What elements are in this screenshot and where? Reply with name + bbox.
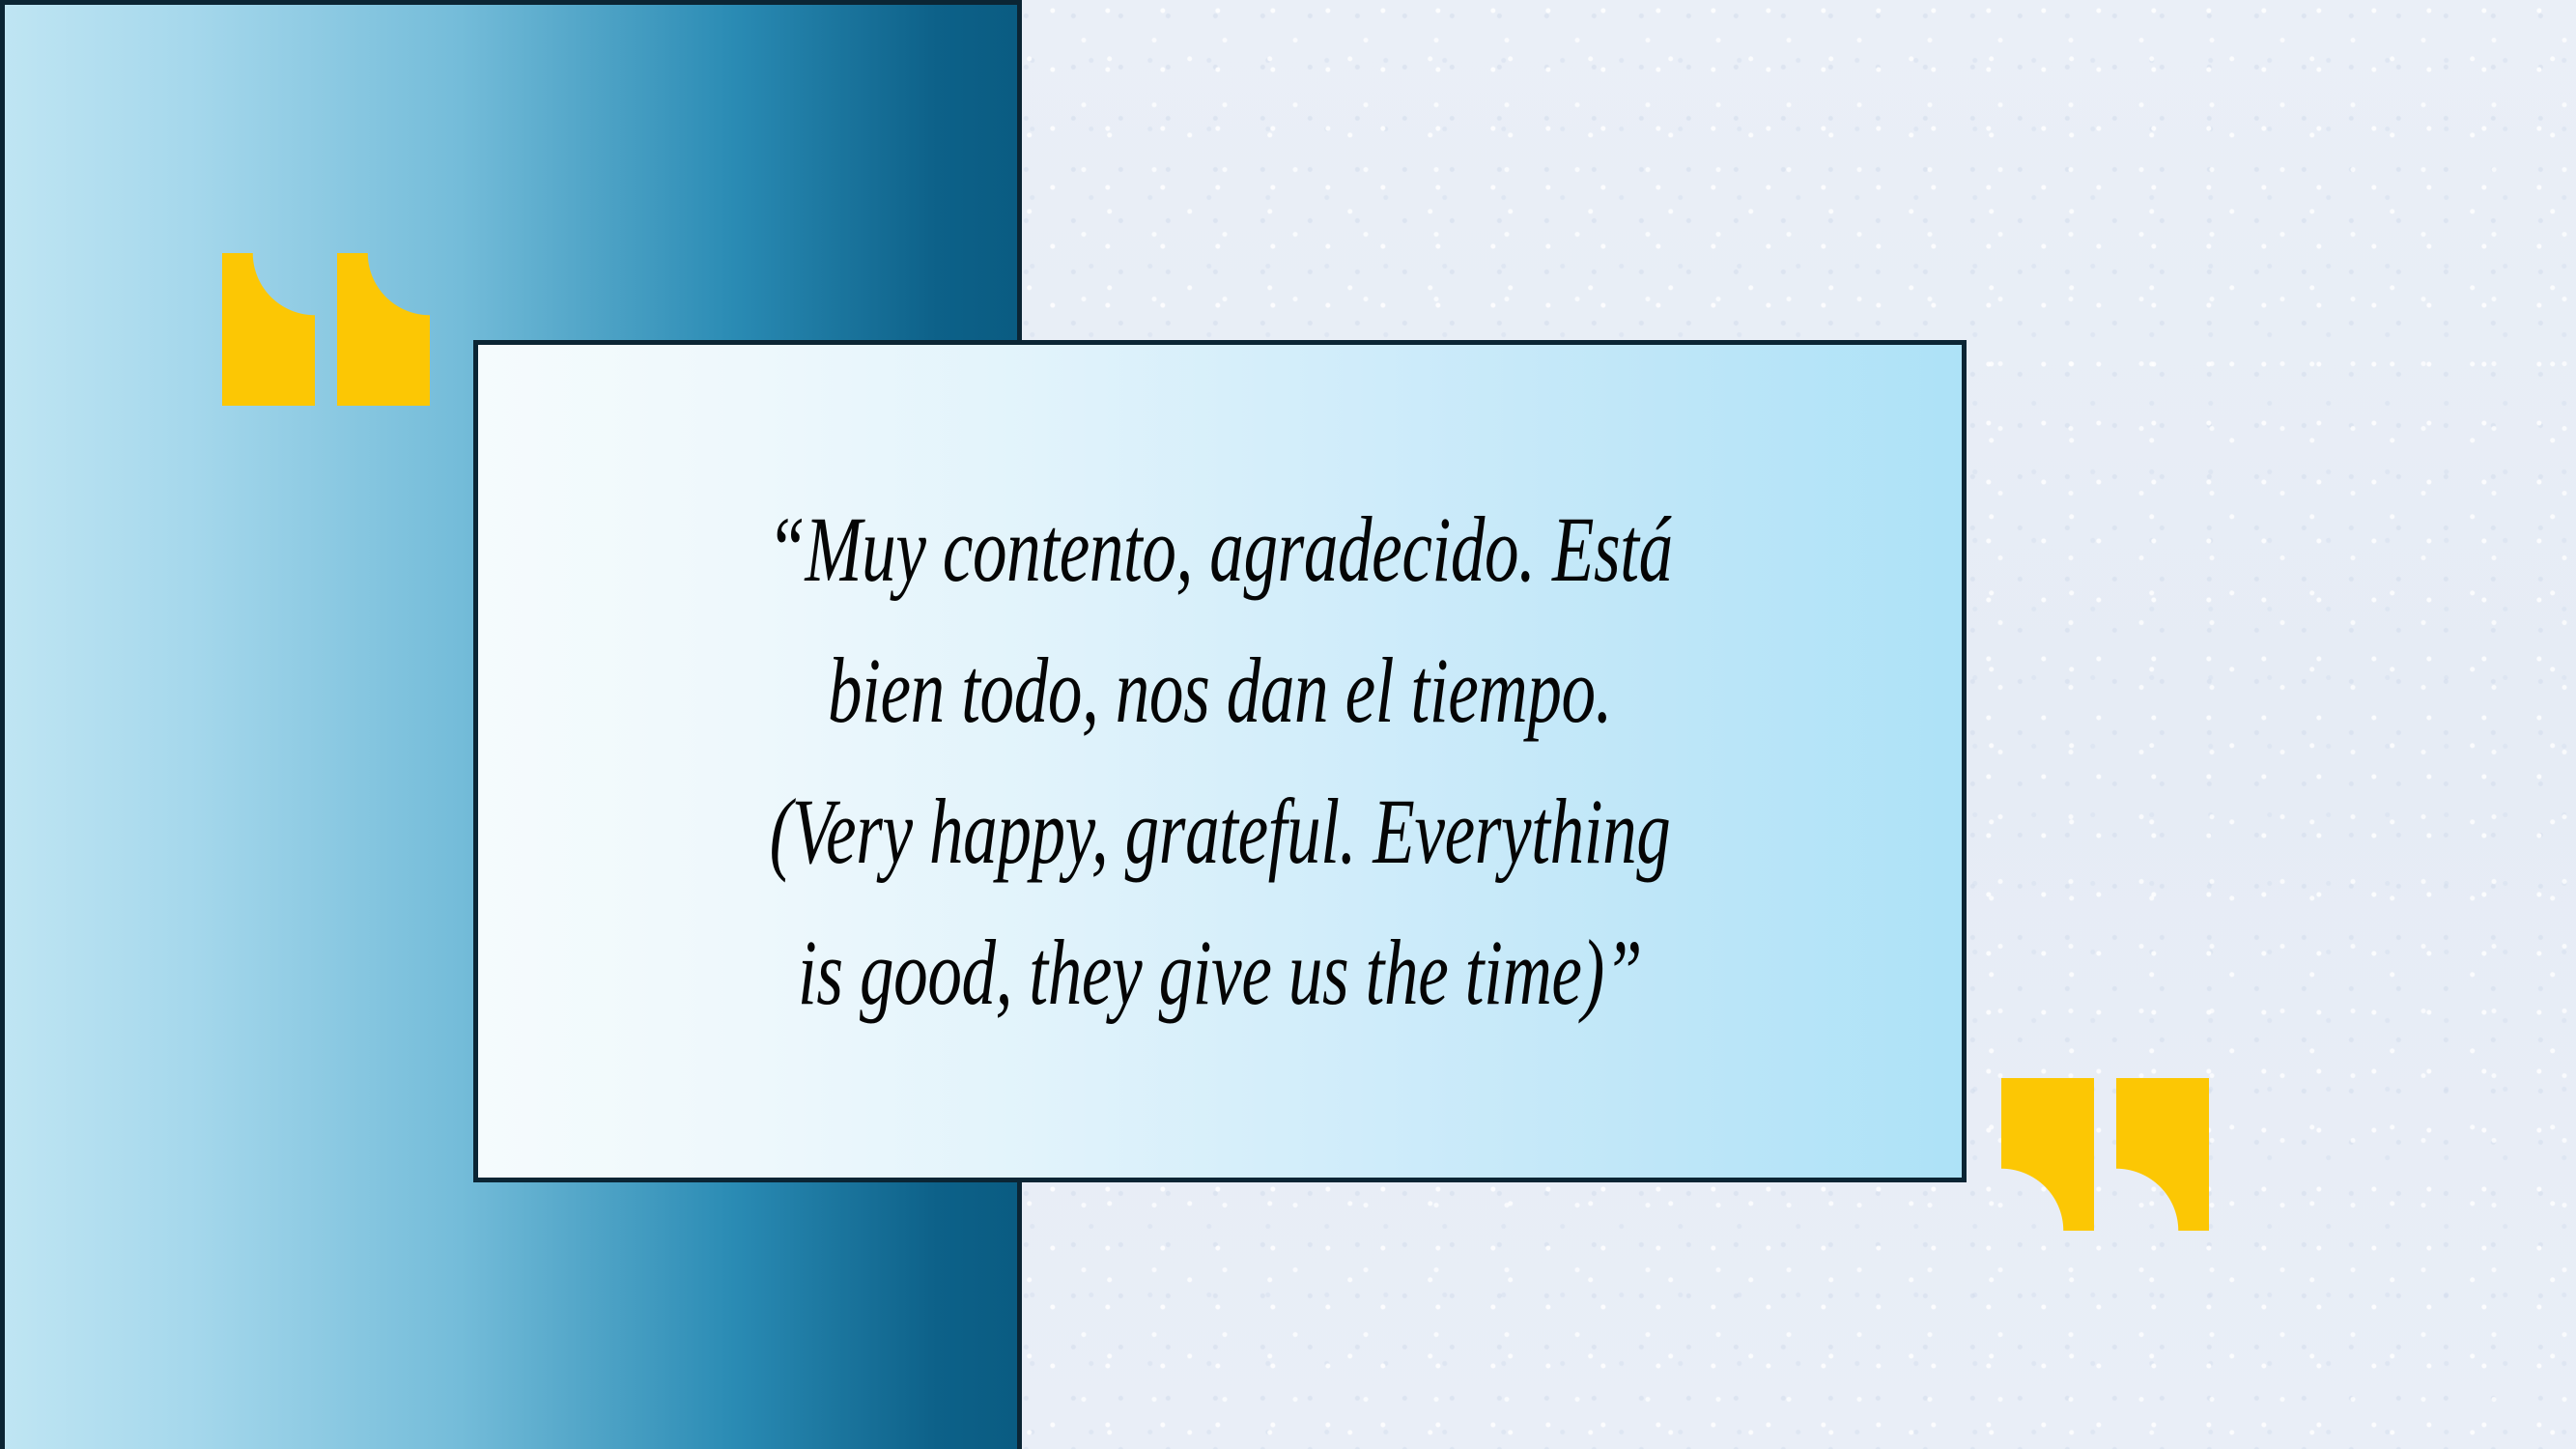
closing-quote-icon — [2001, 1074, 2209, 1231]
closing-quote-glyph-right — [2001, 1078, 2094, 1231]
closing-quote-glyph-left — [2116, 1078, 2209, 1231]
opening-quote-glyph-right — [337, 253, 430, 406]
opening-quote-glyph-left — [222, 253, 315, 406]
opening-quote-icon — [222, 253, 430, 410]
quote-text-box: “Muy contento, agradecido. Está bien tod… — [473, 340, 1967, 1182]
quote-text: “Muy contento, agradecido. Está bien tod… — [671, 479, 1769, 1043]
quote-slide: “Muy contento, agradecido. Está bien tod… — [0, 0, 2576, 1449]
